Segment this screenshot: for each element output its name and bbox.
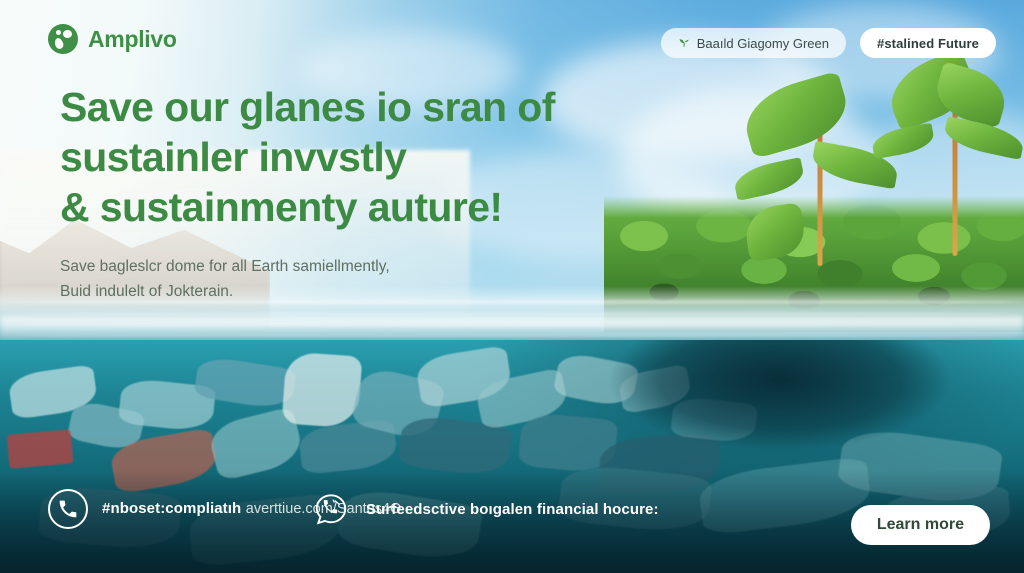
headline-line-1: Save our glanes io sran of (60, 82, 630, 132)
plant-leaf (930, 61, 1011, 128)
eco-promo-banner: Amplivo Baaıld Giagomy Green #stalined F… (0, 0, 1024, 573)
deep-water-shadow (600, 340, 1024, 460)
sprout-icon (678, 37, 690, 49)
learn-more-button[interactable]: Learn more (851, 505, 990, 545)
contact-text: Surfeedsctive boıgalen financial hocure: (366, 499, 659, 520)
seedling-plant-left (760, 86, 880, 266)
badge-sustained-future[interactable]: #stalined Future (860, 28, 996, 58)
phone-icon (48, 489, 88, 529)
badge-label: #stalined Future (877, 36, 979, 51)
hero-subtitle: Save bagleslcr dome for all Earth samiel… (60, 254, 630, 304)
headline-line-2: sustainler invvstly (60, 132, 630, 182)
contact-subtitle: financial hocure: (537, 501, 659, 518)
subtitle-line-2: Buid indulelt of Jokterain. (60, 279, 630, 304)
whatsapp-phone-bubble-icon (310, 489, 352, 531)
headline-line-3: & sustainmenty auture! (60, 182, 630, 232)
footer-bar: #nboset:compliatıh averttiue.com/Santos4… (0, 477, 1024, 573)
brand-name: Amplivo (88, 26, 177, 53)
contact-title: #nboset:compliatıh (102, 500, 241, 517)
plastic-debris (282, 351, 363, 428)
tag-badges: Baaıld Giagomy Green #stalined Future (661, 28, 996, 58)
plastic-debris (7, 429, 74, 468)
hero-copy: Save our glanes io sran of sustainler in… (60, 82, 630, 304)
contact-whatsapp[interactable]: Surfeedsctive boıgalen financial hocure: (310, 489, 659, 531)
seedling-plant-right (900, 66, 1010, 256)
badge-label: Baaıld Giagomy Green (697, 36, 829, 51)
water-ripple (0, 312, 1024, 315)
subtitle-line-1: Save bagleslcr dome for all Earth samiel… (60, 254, 630, 279)
contact-title: Surfeedsctive boıgalen (366, 501, 532, 518)
water-foam (0, 316, 1024, 342)
brand-logo[interactable]: Amplivo (48, 24, 177, 54)
leaf-circle-icon (48, 24, 78, 54)
badge-build-green[interactable]: Baaıld Giagomy Green (661, 28, 846, 58)
page-title: Save our glanes io sran of sustainler in… (60, 82, 630, 232)
